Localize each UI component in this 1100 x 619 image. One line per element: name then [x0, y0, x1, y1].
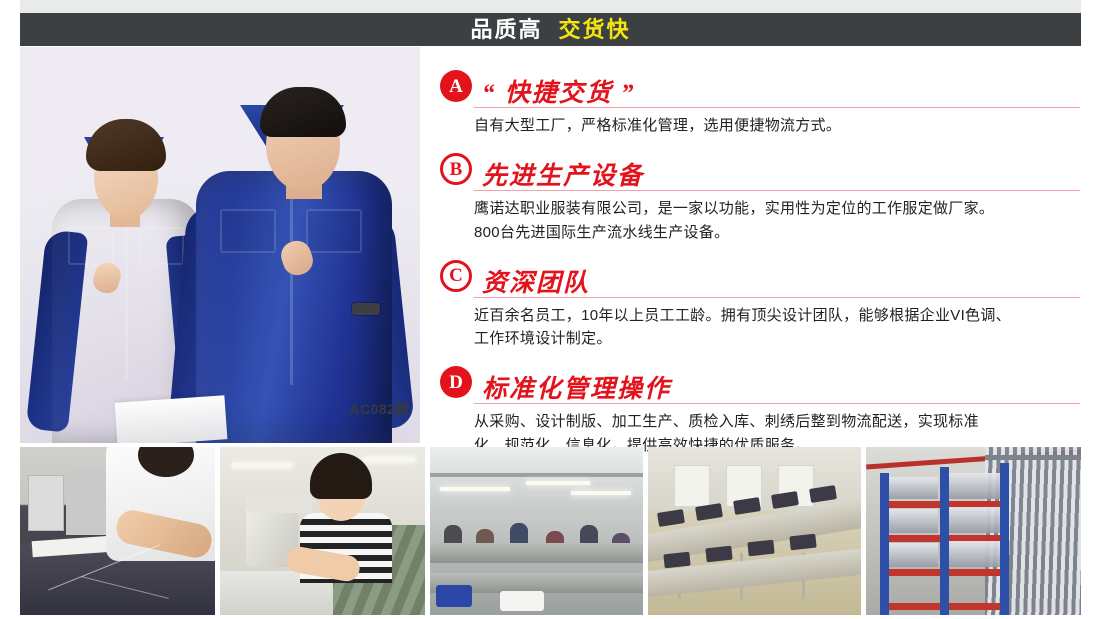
feature-b-header: B 先进生产设备	[440, 153, 1080, 191]
product-code-label: AC082款	[349, 399, 410, 419]
feature-b-title: 先进生产设备	[482, 164, 644, 191]
feature-a-body: 自有大型工厂，严格标准化管理，选用便捷物流方式。	[474, 114, 1080, 137]
feature-c-divider	[474, 297, 1080, 298]
feature-list: A “ 快捷交货 ” 自有大型工厂，严格标准化管理，选用便捷物流方式。 B 先进…	[440, 70, 1080, 473]
garment-piece-a5	[809, 485, 837, 503]
ceiling-light-2	[363, 457, 415, 462]
rack-post-1	[880, 473, 889, 615]
garment-piece-b4	[789, 534, 816, 551]
feature-d-divider	[474, 403, 1080, 404]
header-title-yellow: 交货快	[559, 19, 631, 41]
packed-goods-6	[944, 541, 1000, 567]
garment-piece-b2	[705, 546, 732, 563]
hanging-rail	[985, 455, 1081, 460]
feature-d-title: 标准化管理操作	[482, 377, 671, 404]
garment-piece-b3	[747, 540, 774, 557]
male-model	[178, 113, 404, 443]
thumb-workshop	[430, 447, 643, 615]
feature-a-title: “ 快捷交货 ”	[482, 81, 636, 108]
thumb-conveyor-image	[648, 447, 861, 615]
hero-foreground-prop	[115, 395, 228, 443]
ceiling-light-1	[232, 463, 292, 468]
workshop-light-2	[526, 481, 590, 485]
wristwatch-icon	[352, 303, 380, 315]
sewing-machine-arm	[246, 493, 312, 513]
window-1	[674, 465, 710, 507]
feature-item-a: A “ 快捷交货 ” 自有大型工厂，严格标准化管理，选用便捷物流方式。	[440, 70, 1080, 137]
feature-c-title: 资深团队	[482, 271, 590, 298]
feature-d-line-1: 从采购、设计制版、加工生产、质检入库、刺绣后整到物流配送，实现标准	[474, 410, 1080, 433]
factory-photo-strip	[20, 447, 1081, 615]
thumb-warehouse-image	[866, 447, 1081, 615]
workshop-light-3	[571, 491, 631, 495]
feature-a-divider	[474, 107, 1080, 108]
feature-a-badge: A	[440, 70, 472, 102]
rack-post-2	[940, 467, 949, 615]
thumb-sewing	[220, 447, 425, 615]
packed-goods-5	[884, 543, 938, 567]
feature-item-c: C 资深团队 近百余名员工，10年以上员工工龄。拥有顶尖设计团队，能够根据企业V…	[440, 260, 1080, 351]
garment-piece-b1	[663, 552, 690, 569]
feature-c-header: C 资深团队	[440, 260, 1080, 298]
thumb-cutting-image	[20, 447, 215, 615]
feature-c-badge: C	[440, 260, 472, 292]
thumb-cutting	[20, 447, 215, 615]
feature-item-d: D 标准化管理操作 从采购、设计制版、加工生产、质检入库、刺绣后整到物流配送，实…	[440, 366, 1080, 457]
hero-product-photo: AC082款	[20, 47, 420, 443]
feature-a-header: A “ 快捷交货 ”	[440, 70, 1080, 108]
thumb-conveyor	[648, 447, 861, 615]
feature-d-badge: D	[440, 366, 472, 398]
feature-b-line-2: 800台先进国际生产流水线生产设备。	[474, 221, 1080, 244]
feature-b-body: 鹰诺达职业服装有限公司，是一家以功能，实用性为定位的工作服定做厂家。 800台先…	[474, 197, 1080, 244]
feature-c-line-1: 近百余名员工，10年以上员工工龄。拥有顶尖设计团队，能够根据企业VI色调、	[474, 304, 1080, 327]
header-title-white: 品质高	[470, 19, 542, 41]
feature-b-line-1: 鹰诺达职业服装有限公司，是一家以功能，实用性为定位的工作服定做厂家。	[474, 197, 1080, 220]
feature-b-divider	[474, 190, 1080, 191]
packed-goods-4	[944, 507, 1000, 533]
feature-b-badge: B	[440, 153, 472, 185]
rack-post-3	[1000, 463, 1009, 615]
product-detail-page: 品质高 交货快	[0, 0, 1100, 619]
male-pocket-right	[306, 209, 362, 253]
thumb-workshop-image	[430, 447, 643, 615]
thumb-sewing-image	[220, 447, 425, 615]
ceiling-beam	[430, 473, 643, 477]
worktable-row-1	[430, 543, 643, 563]
feature-item-b: B 先进生产设备 鹰诺达职业服装有限公司，是一家以功能，实用性为定位的工作服定做…	[440, 153, 1080, 244]
female-pocket-left	[68, 227, 114, 265]
feature-c-body: 近百余名员工，10年以上员工工龄。拥有顶尖设计团队，能够根据企业VI色调、 工作…	[474, 304, 1080, 351]
thumb-warehouse	[866, 447, 1081, 615]
packed-goods-1	[884, 477, 938, 499]
workshop-light-1	[440, 487, 510, 491]
monitor-shape	[28, 475, 64, 531]
header-banner: 品质高 交货快	[20, 13, 1081, 46]
feature-c-line-2: 工作环境设计制定。	[474, 327, 1080, 350]
top-gray-band	[20, 0, 1081, 13]
white-fabric-bolt	[500, 591, 544, 611]
male-pocket-left	[220, 209, 276, 253]
feature-a-line-1: 自有大型工厂，严格标准化管理，选用便捷物流方式。	[474, 114, 1080, 137]
packed-goods-3	[884, 509, 938, 533]
feature-d-header: D 标准化管理操作	[440, 366, 1080, 404]
blue-fabric-bolt	[436, 585, 472, 607]
packed-goods-2	[944, 473, 1000, 499]
